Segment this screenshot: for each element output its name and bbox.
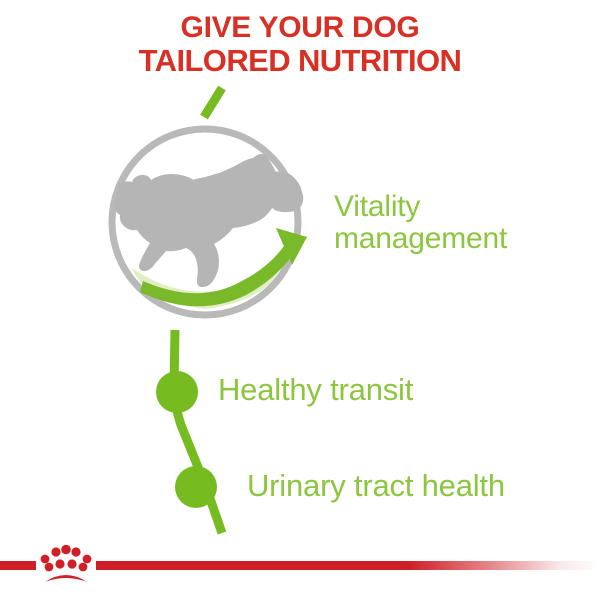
feature-label-healthy-transit: Healthy transit xyxy=(218,374,413,407)
brand-bar-left xyxy=(0,561,36,570)
brand-bar-right xyxy=(96,561,600,570)
feature-label-vitality: Vitality management xyxy=(334,191,507,255)
infographic-graphic xyxy=(0,0,600,600)
royal-canin-crown-icon xyxy=(36,540,96,588)
royal-canin-infographic: GIVE YOUR DOG TAILORED NUTRITION Vitalit… xyxy=(0,0,600,600)
feature-label-urinary-tract-health: Urinary tract health xyxy=(247,470,505,503)
connector-stub-icon xyxy=(204,88,222,117)
connector-node-urinary xyxy=(175,466,217,508)
connector-node-transit xyxy=(156,371,198,413)
brand-footer xyxy=(0,530,600,600)
